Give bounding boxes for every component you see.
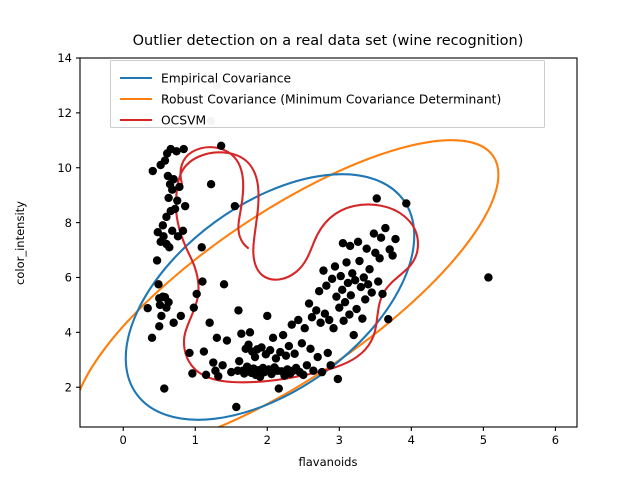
data-point [354, 238, 362, 246]
data-point [338, 286, 346, 294]
data-point [175, 183, 183, 191]
data-point [218, 361, 226, 369]
data-point [368, 288, 376, 296]
x-tick-label: 5 [480, 433, 487, 447]
data-point [205, 319, 213, 327]
data-point [220, 280, 228, 288]
data-point [315, 287, 323, 295]
x-tick-label: 2 [264, 433, 271, 447]
data-point [157, 312, 165, 320]
data-point [160, 384, 168, 392]
data-point [209, 358, 217, 366]
data-point [279, 331, 287, 339]
data-point [341, 298, 349, 306]
data-point [159, 232, 167, 240]
x-tick-label: 0 [120, 433, 127, 447]
data-point [188, 369, 196, 377]
matplotlib-figure: Outlier detection on a real data set (wi… [0, 0, 640, 480]
data-point [309, 367, 317, 375]
data-point [169, 319, 177, 327]
data-point [200, 347, 208, 355]
data-point [202, 371, 210, 379]
data-point [370, 229, 378, 237]
data-point [294, 316, 302, 324]
data-point [318, 368, 326, 376]
data-point [148, 334, 156, 342]
data-point [344, 279, 352, 287]
data-point [168, 185, 176, 193]
data-point [319, 266, 327, 274]
data-point [355, 257, 363, 265]
data-point [305, 299, 313, 307]
chart-canvas: Outlier detection on a real data set (wi… [0, 0, 640, 480]
data-point [290, 350, 298, 358]
data-point [358, 314, 366, 322]
data-point [173, 196, 181, 204]
data-point [303, 361, 311, 369]
data-point [350, 331, 358, 339]
x-tick-label: 6 [552, 433, 559, 447]
data-point [402, 199, 410, 207]
data-point [213, 334, 221, 342]
x-tick-label: 1 [192, 433, 199, 447]
data-point [357, 283, 365, 291]
data-point [484, 273, 492, 281]
data-point [177, 312, 185, 320]
data-point [351, 276, 359, 284]
legend-label-0: Empirical Covariance [161, 71, 291, 85]
y-tick-label: 4 [65, 326, 72, 340]
data-point [179, 227, 187, 235]
data-point [232, 403, 240, 411]
data-point [159, 221, 167, 229]
data-point [169, 175, 177, 183]
data-point [381, 224, 389, 232]
data-point [362, 244, 370, 252]
data-point [324, 349, 332, 357]
data-point [345, 310, 353, 318]
data-point [391, 235, 399, 243]
y-tick-label: 12 [57, 106, 72, 120]
data-point [198, 277, 206, 285]
data-point [263, 312, 271, 320]
data-point [322, 282, 330, 290]
data-point [217, 142, 225, 150]
data-point [364, 280, 372, 288]
data-point [192, 290, 200, 298]
data-point [329, 324, 337, 332]
data-point [185, 349, 193, 357]
data-point [301, 324, 309, 332]
data-point [164, 194, 172, 202]
data-point [231, 202, 239, 210]
data-point [347, 291, 355, 299]
data-point [352, 305, 360, 313]
data-point [161, 156, 169, 164]
y-tick-label: 6 [65, 271, 72, 285]
legend-label-2: OCSVM [161, 113, 206, 127]
data-point [214, 372, 222, 380]
data-point [375, 254, 383, 262]
data-point [269, 334, 277, 342]
data-point [334, 375, 342, 383]
data-point [282, 351, 290, 359]
data-point [337, 272, 345, 280]
data-point [164, 298, 172, 306]
data-point [316, 319, 324, 327]
data-point [377, 234, 385, 242]
data-point [154, 280, 162, 288]
data-point [299, 371, 307, 379]
data-point [165, 243, 173, 251]
data-point [181, 202, 189, 210]
data-point [251, 353, 259, 361]
data-point [339, 317, 347, 325]
data-point [342, 258, 350, 266]
data-point [332, 292, 340, 300]
data-point [285, 342, 293, 350]
data-point [331, 262, 339, 270]
data-point [198, 243, 206, 251]
data-point [235, 357, 243, 365]
x-tick-label: 3 [336, 433, 343, 447]
data-point [275, 384, 283, 392]
data-point [374, 277, 382, 285]
data-point [207, 180, 215, 188]
data-point [180, 145, 188, 153]
y-tick-label: 10 [57, 161, 72, 175]
data-point [266, 346, 274, 354]
data-point [246, 328, 254, 336]
chart-title: Outlier detection on a real data set (wi… [133, 33, 524, 49]
data-point [144, 304, 152, 312]
data-point [237, 330, 245, 338]
data-point [172, 147, 180, 155]
data-point [328, 275, 336, 283]
data-point [361, 295, 369, 303]
y-axis-label: color_intensity [13, 201, 27, 285]
data-point [223, 336, 231, 344]
data-point [149, 167, 157, 175]
data-point [190, 303, 198, 311]
x-axis-label: flavanoids [299, 455, 358, 469]
data-point [306, 345, 314, 353]
data-point [234, 306, 242, 314]
data-point [384, 315, 392, 323]
data-point [388, 251, 396, 259]
legend[interactable]: Empirical CovarianceRobust Covariance (M… [111, 61, 545, 128]
data-point [365, 265, 373, 273]
legend-label-1: Robust Covariance (Minimum Covariance De… [161, 92, 501, 106]
data-point [312, 306, 320, 314]
data-point [155, 322, 163, 330]
data-point [314, 353, 322, 361]
y-tick-label: 2 [65, 380, 72, 394]
data-point [171, 205, 179, 213]
data-point [326, 361, 334, 369]
data-point [339, 239, 347, 247]
y-tick-label: 14 [57, 51, 72, 65]
data-point [298, 339, 306, 347]
data-point [325, 316, 333, 324]
data-point [346, 242, 354, 250]
x-tick-label: 4 [408, 433, 415, 447]
data-point [373, 194, 381, 202]
data-point [153, 256, 161, 264]
y-tick-label: 8 [65, 216, 72, 230]
data-point [378, 290, 386, 298]
